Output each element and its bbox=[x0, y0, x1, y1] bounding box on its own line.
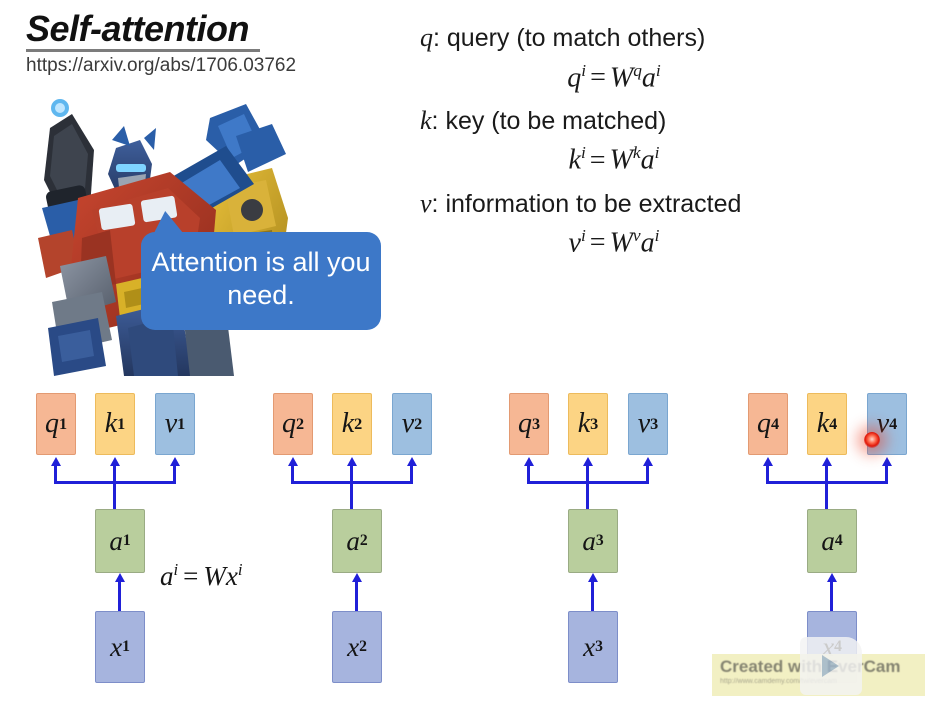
arrowhead-a1 bbox=[115, 573, 125, 582]
wire-v2-vertical bbox=[410, 466, 413, 483]
eq-key-a-sup: i bbox=[655, 143, 660, 162]
arrowhead-k3 bbox=[583, 457, 593, 466]
speech-bubble: Attention is all you need. bbox=[141, 232, 381, 330]
definitions-panel: q: query (to match others) qi=Wqai k: ke… bbox=[420, 22, 920, 270]
arrowhead-q4 bbox=[763, 457, 773, 466]
eq-a-operator: = bbox=[178, 561, 203, 591]
v3-label: v bbox=[638, 408, 650, 440]
a-box-3: a3 bbox=[568, 509, 618, 573]
value-symbol: v bbox=[420, 189, 432, 218]
eq-key-operator: = bbox=[586, 145, 610, 176]
qkv-box-v3: v3 bbox=[628, 393, 668, 455]
k1-label: k bbox=[105, 408, 117, 440]
q2-label: q bbox=[282, 408, 296, 440]
eq-a-lhs: a bbox=[160, 561, 174, 591]
eq-key-w-sup: k bbox=[633, 143, 641, 162]
arrowhead-a2 bbox=[352, 573, 362, 582]
eq-value-w: W bbox=[610, 227, 633, 258]
a2-label: a bbox=[346, 526, 360, 557]
definition-query-text: q: query (to match others) bbox=[420, 22, 920, 55]
definition-group-key: k: key (to be matched) ki=Wkai bbox=[420, 105, 920, 179]
a3-index: 3 bbox=[596, 532, 604, 550]
arrowhead-a3 bbox=[588, 573, 598, 582]
x3-label: x bbox=[583, 632, 595, 663]
k1-index: 1 bbox=[117, 415, 125, 434]
qkv-box-k3: k3 bbox=[568, 393, 608, 455]
wire-x4-to-a4 bbox=[830, 582, 833, 611]
qkv-box-q4: q4 bbox=[748, 393, 788, 455]
eq-query-a-sup: i bbox=[656, 61, 661, 80]
wire-x3-to-a3 bbox=[591, 582, 594, 611]
wire-v4-vertical bbox=[885, 466, 888, 483]
wire-x1-to-a1 bbox=[118, 582, 121, 611]
q1-label: q bbox=[45, 408, 59, 440]
eq-value-w-sup: v bbox=[633, 226, 641, 245]
qkv-box-v2: v2 bbox=[392, 393, 432, 455]
v3-index: 3 bbox=[650, 415, 658, 434]
v2-index: 2 bbox=[414, 415, 422, 434]
wire-v1-vertical bbox=[173, 466, 176, 483]
qkv-box-k1: k1 bbox=[95, 393, 135, 455]
eq-value-a-sup: i bbox=[655, 226, 660, 245]
x-box-1: x1 bbox=[95, 611, 145, 683]
arrowhead-q2 bbox=[288, 457, 298, 466]
value-description: : information to be extracted bbox=[432, 190, 742, 218]
arrowhead-k4 bbox=[822, 457, 832, 466]
arrowhead-q1 bbox=[51, 457, 61, 466]
eq-a-x-sup: i bbox=[238, 560, 243, 579]
eq-value-lhs: v bbox=[569, 227, 581, 258]
equation-key: ki=Wkai bbox=[420, 137, 920, 178]
eq-value-a: a bbox=[641, 227, 655, 258]
qkv-box-v1: v1 bbox=[155, 393, 195, 455]
x3-index: 3 bbox=[595, 638, 603, 656]
x2-label: x bbox=[347, 632, 359, 663]
x1-index: 1 bbox=[122, 638, 130, 656]
k3-index: 3 bbox=[590, 415, 598, 434]
eq-query-w-sup: q bbox=[633, 61, 642, 80]
wire-bus-3 bbox=[527, 481, 649, 484]
q1-index: 1 bbox=[59, 415, 67, 434]
definition-value-text: v: information to be extracted bbox=[420, 188, 920, 221]
definition-group-query: q: query (to match others) qi=Wqai bbox=[420, 22, 920, 96]
wire-bus-4 bbox=[766, 481, 888, 484]
eq-query-operator: = bbox=[586, 62, 610, 93]
eq-key-lhs: k bbox=[569, 145, 581, 176]
qkv-box-q2: q2 bbox=[273, 393, 313, 455]
evercam-play-logo-icon bbox=[800, 637, 862, 695]
v1-label: v bbox=[165, 408, 177, 440]
title-block: Self-attention https://arxiv.org/abs/170… bbox=[26, 10, 366, 77]
eq-a-w: W bbox=[203, 561, 226, 591]
a4-label: a bbox=[821, 526, 835, 557]
k3-label: k bbox=[578, 408, 590, 440]
arrowhead-v2 bbox=[407, 457, 417, 466]
q4-index: 4 bbox=[771, 415, 779, 434]
x2-index: 2 bbox=[359, 638, 367, 656]
k2-index: 2 bbox=[354, 415, 362, 434]
k4-index: 4 bbox=[829, 415, 837, 434]
k2-label: k bbox=[342, 408, 354, 440]
wire-x2-to-a2 bbox=[355, 582, 358, 611]
definition-group-value: v: information to be extracted vi=Wvai bbox=[420, 188, 920, 262]
arrowhead-v4 bbox=[882, 457, 892, 466]
a-box-2: a2 bbox=[332, 509, 382, 573]
wire-q2-vertical bbox=[291, 466, 294, 483]
q3-label: q bbox=[518, 408, 532, 440]
wire-q4-vertical bbox=[766, 466, 769, 483]
equation-value: vi=Wvai bbox=[420, 220, 920, 261]
qkv-box-k4: k4 bbox=[807, 393, 847, 455]
slide-canvas: Self-attention https://arxiv.org/abs/170… bbox=[0, 0, 925, 703]
key-description: : key (to be matched) bbox=[432, 107, 667, 135]
a3-label: a bbox=[582, 526, 596, 557]
page-title: Self-attention bbox=[26, 10, 366, 48]
arrowhead-k2 bbox=[347, 457, 357, 466]
v4-index: 4 bbox=[889, 415, 897, 434]
eq-query-a: a bbox=[642, 62, 656, 93]
key-symbol: k bbox=[420, 106, 432, 135]
wire-k2-vertical bbox=[350, 466, 353, 509]
a2-index: 2 bbox=[360, 532, 368, 550]
eq-value-operator: = bbox=[586, 227, 610, 258]
definition-key-text: k: key (to be matched) bbox=[420, 105, 920, 138]
wire-bus-2 bbox=[291, 481, 413, 484]
a1-label: a bbox=[109, 526, 123, 557]
wire-q3-vertical bbox=[527, 466, 530, 483]
paper-url-link[interactable]: https://arxiv.org/abs/1706.03762 bbox=[26, 55, 366, 77]
q3-index: 3 bbox=[532, 415, 540, 434]
laser-pointer-dot bbox=[864, 432, 880, 448]
wire-v3-vertical bbox=[646, 466, 649, 483]
qkv-box-q1: q1 bbox=[36, 393, 76, 455]
a1-index: 1 bbox=[123, 532, 131, 550]
title-underline-rule bbox=[26, 49, 260, 52]
x1-label: x bbox=[110, 632, 122, 663]
arrowhead-k1 bbox=[110, 457, 120, 466]
arrowhead-v1 bbox=[170, 457, 180, 466]
arrowhead-v3 bbox=[643, 457, 653, 466]
k4-label: k bbox=[817, 408, 829, 440]
equation-embedding: ai=Wxi bbox=[160, 560, 243, 592]
v2-label: v bbox=[402, 408, 414, 440]
eq-a-x: x bbox=[226, 561, 238, 591]
a-box-4: a4 bbox=[807, 509, 857, 573]
qkv-box-q3: q3 bbox=[509, 393, 549, 455]
eq-query-w: W bbox=[610, 62, 633, 93]
x-box-2: x2 bbox=[332, 611, 382, 683]
wire-q1-vertical bbox=[54, 466, 57, 483]
eq-a-lhs-sup: i bbox=[174, 560, 179, 579]
query-symbol: q bbox=[420, 23, 433, 52]
a4-index: 4 bbox=[835, 532, 843, 550]
equation-query: qi=Wqai bbox=[420, 55, 920, 96]
x-box-3: x3 bbox=[568, 611, 618, 683]
wire-bus-1 bbox=[54, 481, 176, 484]
robot-left-fist bbox=[48, 256, 116, 376]
eq-key-w: W bbox=[610, 145, 633, 176]
q4-label: q bbox=[757, 408, 771, 440]
wire-k4-vertical bbox=[825, 466, 828, 509]
a-box-1: a1 bbox=[95, 509, 145, 573]
arrowhead-a4 bbox=[827, 573, 837, 582]
eq-key-a: a bbox=[641, 145, 655, 176]
q2-index: 2 bbox=[296, 415, 304, 434]
wire-k1-vertical bbox=[113, 466, 116, 509]
v1-index: 1 bbox=[177, 415, 185, 434]
wire-k3-vertical bbox=[586, 466, 589, 509]
query-description: : query (to match others) bbox=[433, 24, 705, 52]
eq-query-lhs: q bbox=[567, 62, 581, 93]
arrowhead-q3 bbox=[524, 457, 534, 466]
qkv-box-k2: k2 bbox=[332, 393, 372, 455]
